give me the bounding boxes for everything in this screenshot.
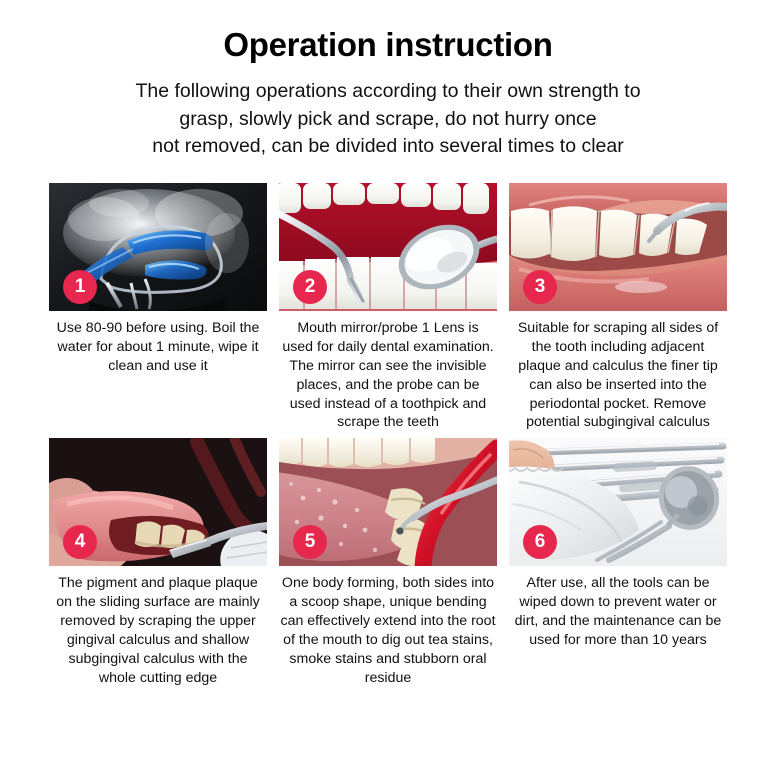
subtitle-line-1: The following operations according to th… xyxy=(68,78,708,106)
steps-grid: 1 Use 80-90 before using. Boil the water… xyxy=(0,183,776,688)
step-caption-3: Suitable for scraping all sides of the t… xyxy=(510,319,726,432)
step-badge-1: 1 xyxy=(63,270,97,304)
step-card-3: 3 Suitable for scraping all sides of the… xyxy=(509,183,727,432)
step-image-1: 1 xyxy=(49,183,267,311)
step-badge-6: 6 xyxy=(523,525,557,559)
step-caption-6: After use, all the tools can be wiped do… xyxy=(510,574,726,650)
step-image-4: 4 xyxy=(49,438,267,566)
step-image-3: 3 xyxy=(509,183,727,311)
step-caption-5: One body forming, both sides into a scoo… xyxy=(280,574,496,687)
step-caption-2: Mouth mirror/probe 1 Lens is used for da… xyxy=(280,319,496,432)
step-card-2: 2 Mouth mirror/probe 1 Lens is used for … xyxy=(279,183,497,432)
step-image-6: 6 xyxy=(509,438,727,566)
page-subtitle: The following operations according to th… xyxy=(68,78,708,161)
page-header: Operation instruction The following oper… xyxy=(0,0,776,161)
step-caption-1: Use 80-90 before using. Boil the water f… xyxy=(50,319,266,376)
step-card-5: 5 One body forming, both sides into a sc… xyxy=(279,438,497,687)
subtitle-line-3: not removed, can be divided into several… xyxy=(68,133,708,161)
step-card-6: 6 After use, all the tools can be wiped … xyxy=(509,438,727,687)
step-badge-4: 4 xyxy=(63,525,97,559)
step-badge-5: 5 xyxy=(293,525,327,559)
step-image-5: 5 xyxy=(279,438,497,566)
subtitle-line-2: grasp, slowly pick and scrape, do not hu… xyxy=(68,106,708,134)
step-card-1: 1 Use 80-90 before using. Boil the water… xyxy=(49,183,267,432)
step-caption-4: The pigment and plaque plaque on the sli… xyxy=(50,574,266,687)
step-badge-2: 2 xyxy=(293,270,327,304)
page-title: Operation instruction xyxy=(0,26,776,64)
step-badge-3: 3 xyxy=(523,270,557,304)
step-image-2: 2 xyxy=(279,183,497,311)
step-card-4: 4 The pigment and plaque plaque on the s… xyxy=(49,438,267,687)
instruction-page: Operation instruction The following oper… xyxy=(0,0,776,772)
